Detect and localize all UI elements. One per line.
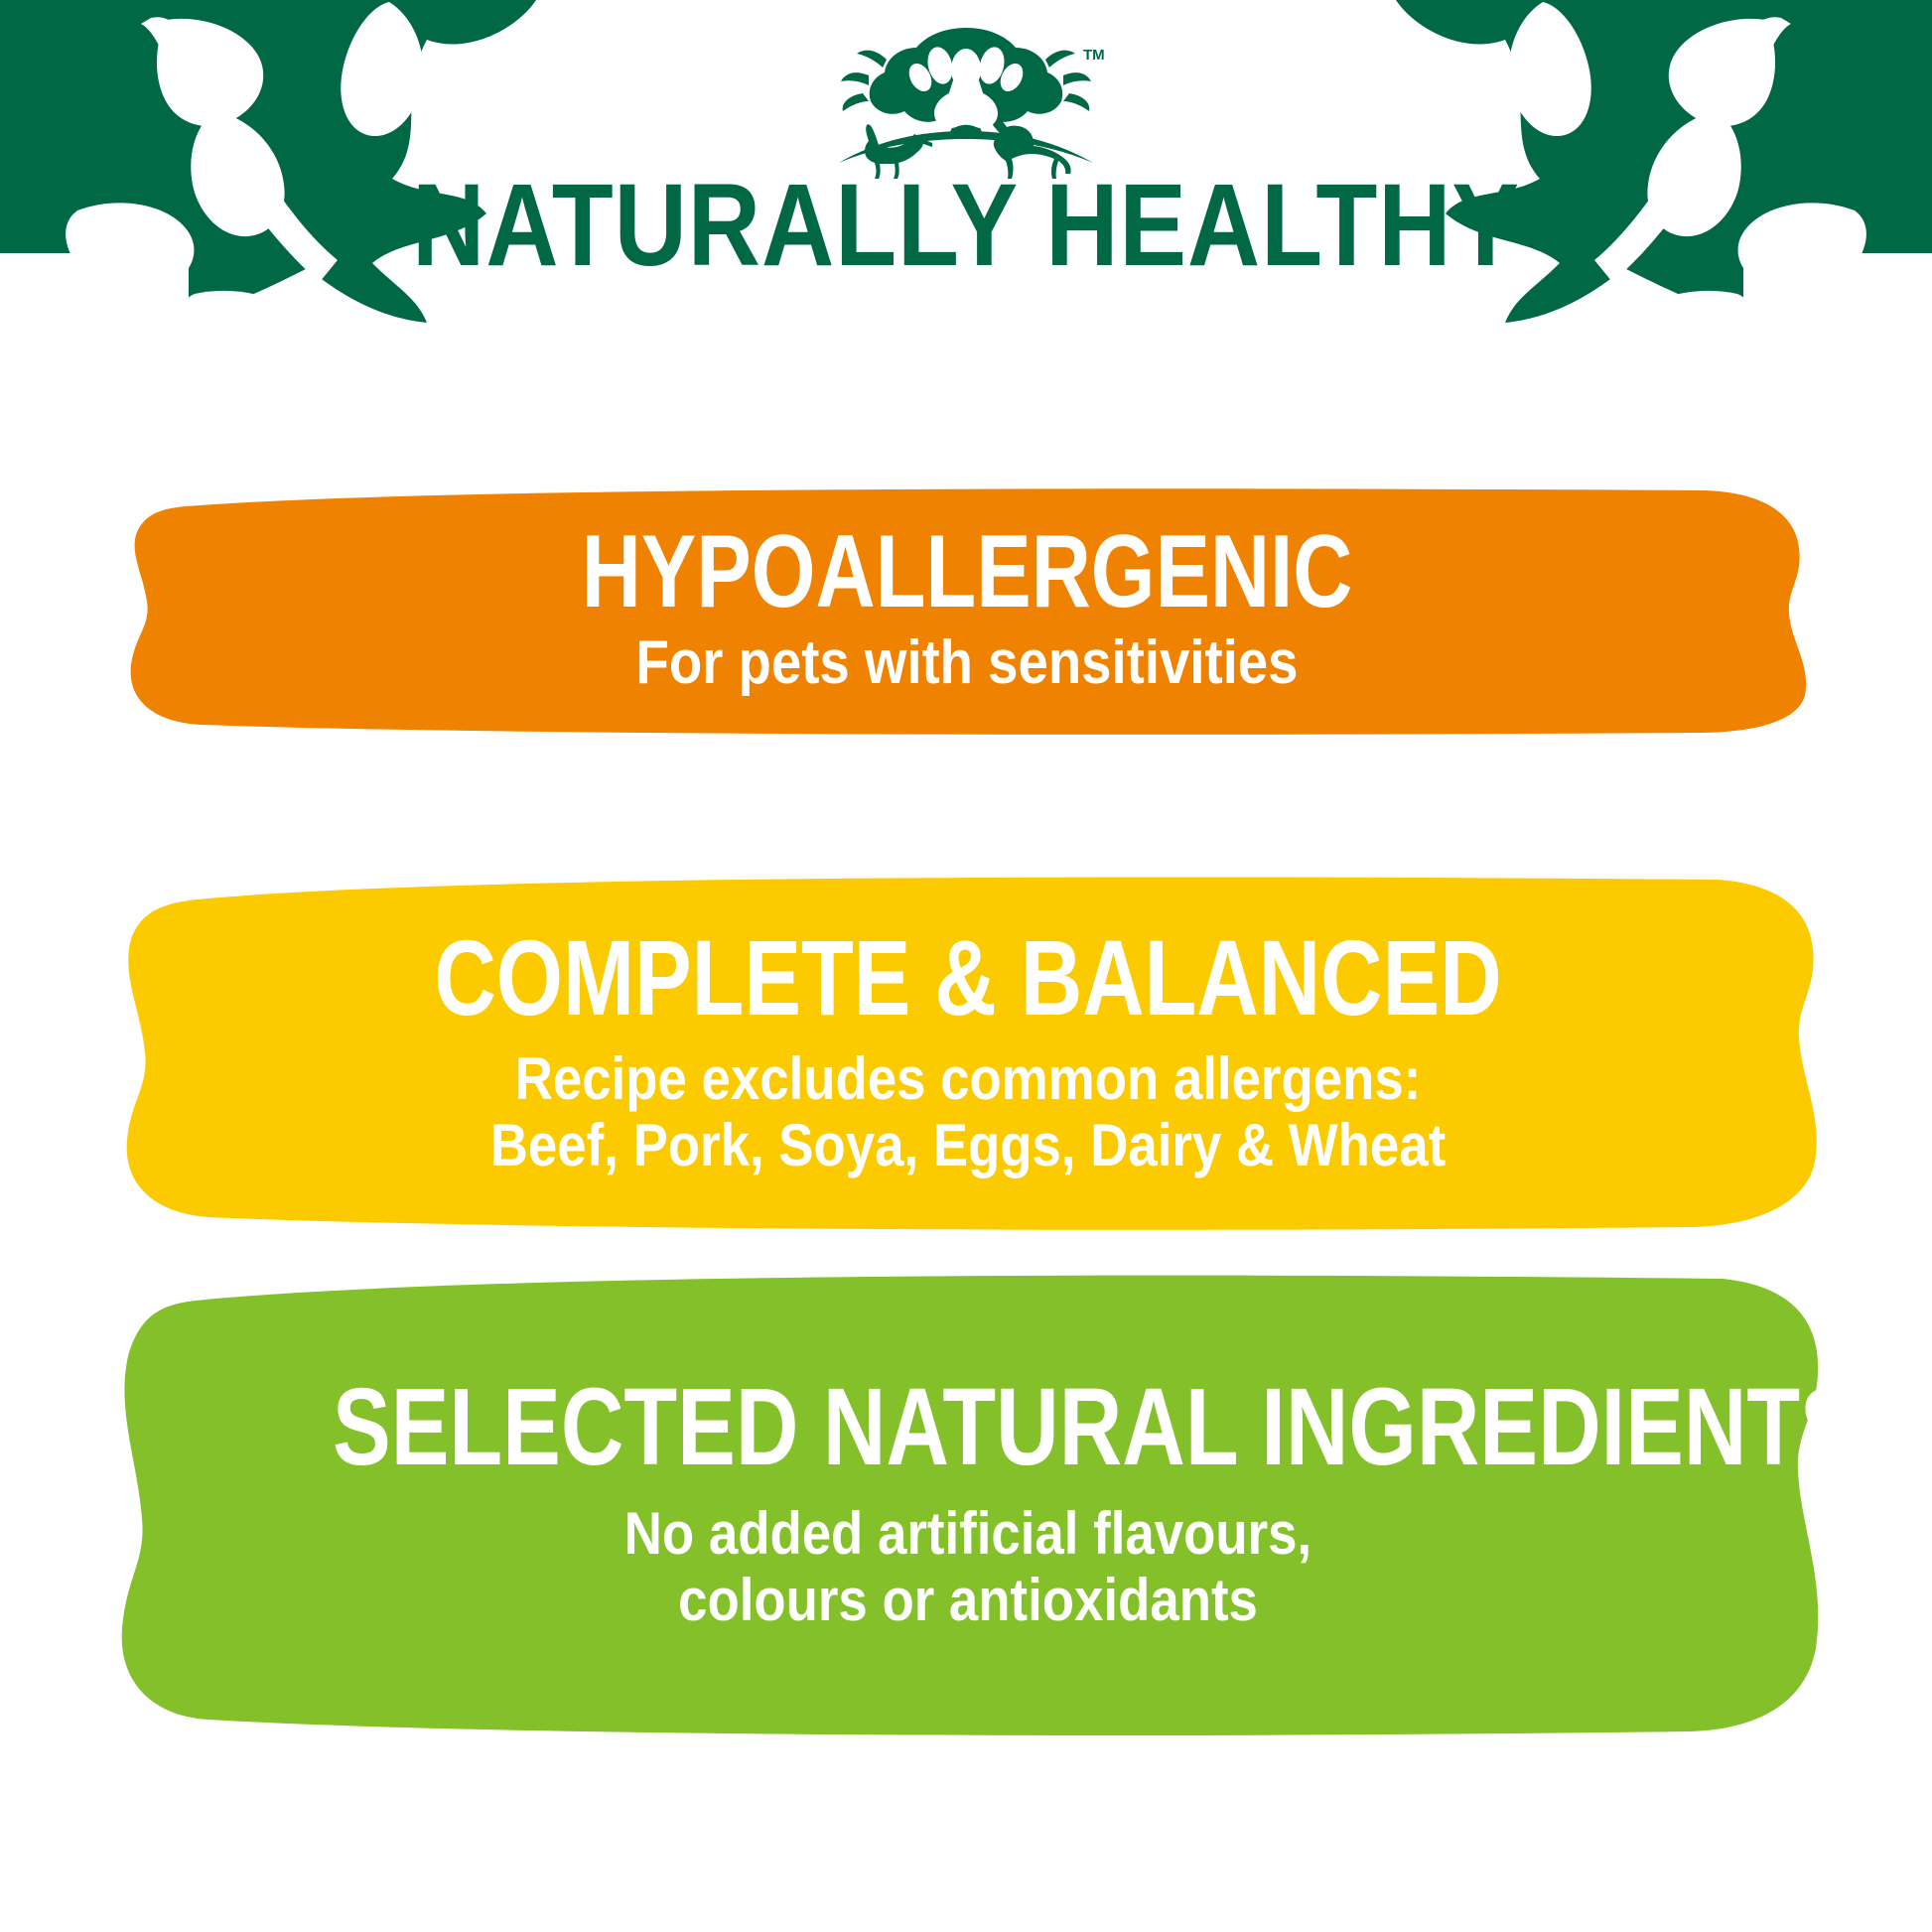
trademark-symbol: TM [1083,47,1105,64]
banner-complete-headline: COMPLETE & BALANCED [337,926,1599,1030]
banner-complete-subline-2: Beef, Pork, Soya, Eggs, Dairy & Wheat [273,1112,1662,1178]
banner-selected-headline: SELECTED NATURAL INGREDIENTS [333,1375,1603,1480]
banner-selected-subline-2: colours or antioxidants [269,1567,1667,1633]
banner-hypoallergenic-headline: HYPOALLERGENIC [343,523,1591,622]
banner-selected-natural-ingredients: SELECTED NATURAL INGREDIENTS No added ar… [104,1271,1832,1737]
banner-hypoallergenic-subline-1: For pets with sensitivities [280,628,1653,697]
banner-complete-subline-1: Recipe excludes common allergens: [273,1045,1662,1112]
banner-complete-content: COMPLETE & BALANCED Recipe excludes comm… [109,926,1827,1178]
poster-root: TM NATURALLY HEALTHY HYPOALLERGENIC For … [0,0,1932,1932]
banner-hypoallergenic: HYPOALLERGENIC For pets with sensitiviti… [117,486,1817,735]
banner-selected-content: SELECTED NATURAL INGREDIENTS No added ar… [104,1375,1832,1633]
banner-selected-subline-1: No added artificial flavours, [269,1500,1667,1567]
banner-complete-and-balanced: COMPLETE & BALANCED Recipe excludes comm… [109,874,1827,1231]
banner-hypoallergenic-content: HYPOALLERGENIC For pets with sensitiviti… [117,523,1817,697]
page-title: NATURALLY HEALTHY [135,167,1797,284]
